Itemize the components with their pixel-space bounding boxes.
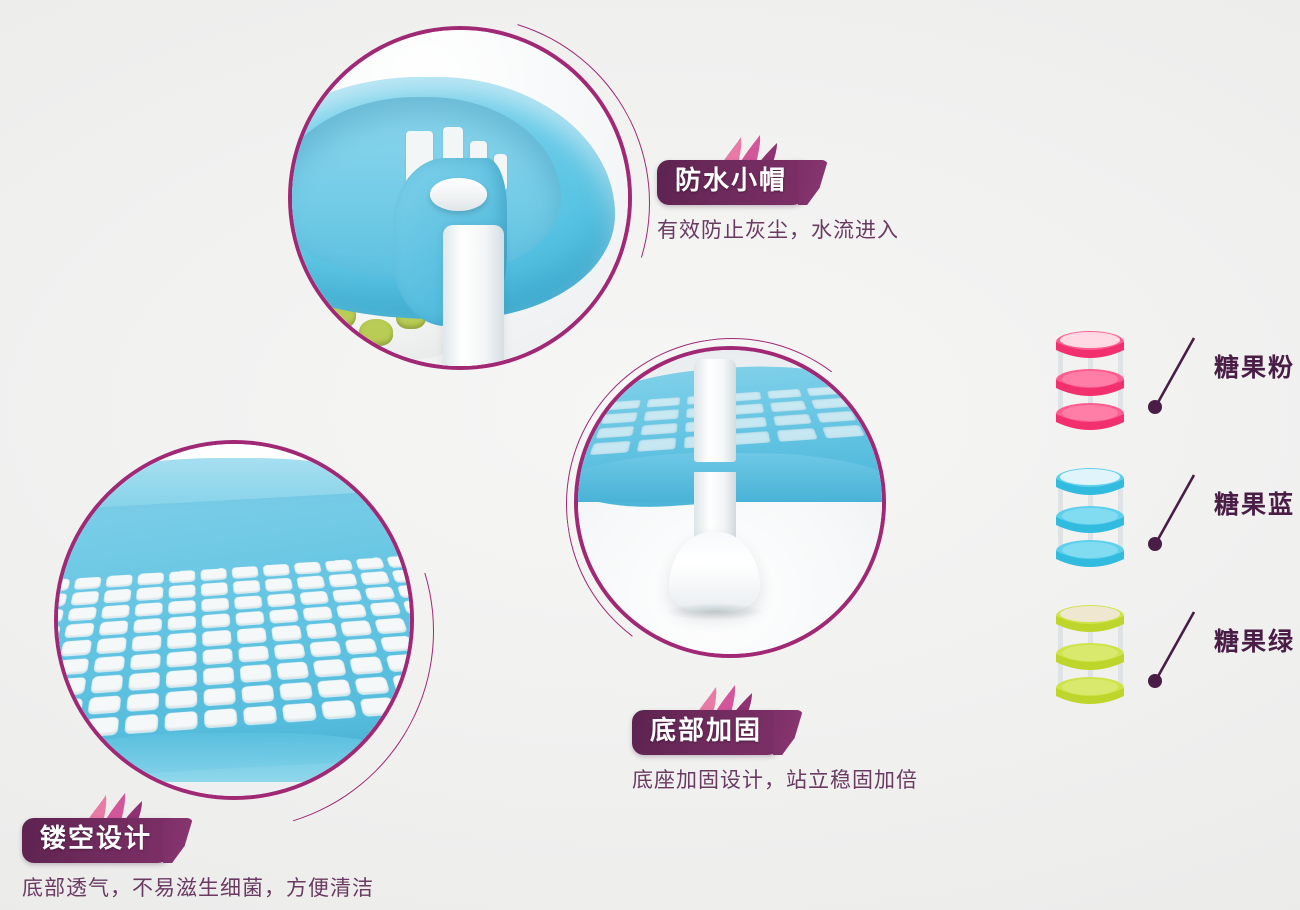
feature-description: 有效防止灰尘，水流进入 [657,214,899,244]
feature-hollow-design: 镂空设计 底部透气，不易滋生细菌，方便清洁 [22,818,374,902]
color-options-list: 糖果粉 [1032,318,1300,729]
feature-description: 底座加固设计，站立稳固加倍 [632,764,918,794]
rack-icon [1042,598,1138,704]
color-option-candy-blue[interactable]: 糖果蓝 [1032,455,1300,592]
color-option-label: 糖果粉 [1214,348,1295,384]
rack-icon [1042,461,1138,567]
color-option-candy-green[interactable]: 糖果绿 [1032,592,1300,729]
feature-title: 防水小帽 [657,160,807,205]
pointer-line-icon [1144,469,1204,553]
photo-base [578,350,882,654]
product-feature-page: 防水小帽 有效防止灰尘，水流进入 底部加固 底座加固设计，站立稳固加倍 镂空设计… [0,0,1300,910]
pointer-line-icon [1144,332,1204,416]
photo-waterproof-cap-image [292,30,628,366]
feature-title: 镂空设计 [22,818,172,863]
photo-waterproof-cap [292,30,628,366]
photo-hollow-shelf-image [58,444,410,796]
feature-title: 底部加固 [632,710,782,755]
photo-base-image [578,350,882,654]
pointer-line-icon [1144,606,1204,690]
feature-waterproof-cap: 防水小帽 有效防止灰尘，水流进入 [657,160,899,244]
rack-icon [1042,324,1138,430]
feature-reinforced-base: 底部加固 底座加固设计，站立稳固加倍 [632,710,918,794]
photo-hollow-shelf [58,444,410,796]
color-option-label: 糖果蓝 [1214,485,1295,521]
feature-description: 底部透气，不易滋生细菌，方便清洁 [22,872,374,902]
color-option-candy-pink[interactable]: 糖果粉 [1032,318,1300,455]
color-option-label: 糖果绿 [1214,622,1295,658]
